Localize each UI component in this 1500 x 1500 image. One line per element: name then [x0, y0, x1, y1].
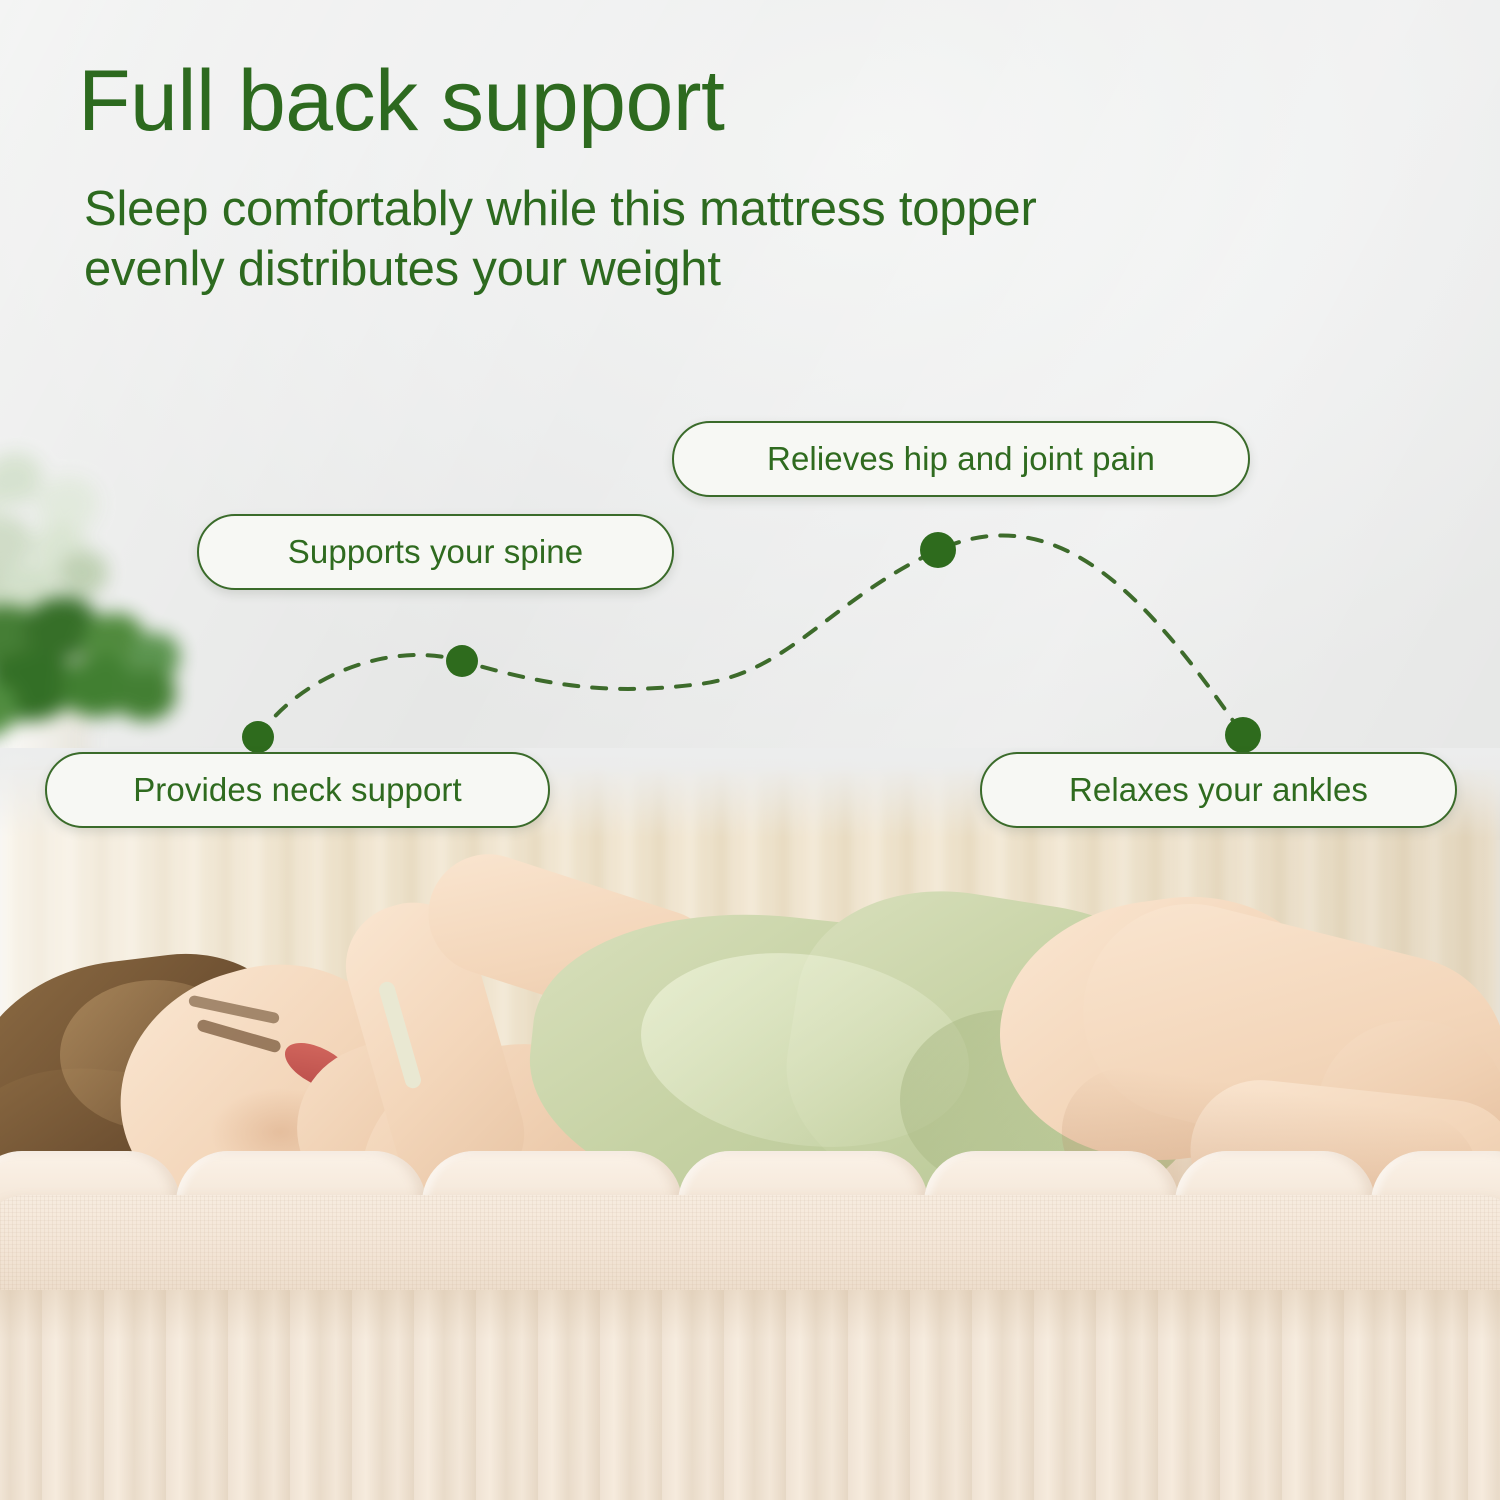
curve-point-hip	[920, 532, 956, 568]
infographic-canvas: Full back support Sleep comfortably whil…	[0, 0, 1500, 1500]
callout-pill-ankles[interactable]: Relaxes your ankles	[980, 752, 1457, 828]
curve-point-ankles	[1225, 717, 1261, 753]
curve-point-spine	[446, 645, 478, 677]
callout-pill-spine[interactable]: Supports your spine	[197, 514, 674, 590]
support-curve-svg	[0, 0, 1500, 1500]
callout-label-neck: Provides neck support	[133, 771, 462, 809]
callout-pill-hip[interactable]: Relieves hip and joint pain	[672, 421, 1250, 497]
callout-label-spine: Supports your spine	[288, 533, 583, 571]
callout-label-hip: Relieves hip and joint pain	[767, 440, 1155, 478]
callout-pill-neck[interactable]: Provides neck support	[45, 752, 550, 828]
callout-label-ankles: Relaxes your ankles	[1069, 771, 1368, 809]
support-curve-overlay: Provides neck support Supports your spin…	[0, 0, 1500, 1500]
curve-point-neck	[242, 721, 274, 753]
